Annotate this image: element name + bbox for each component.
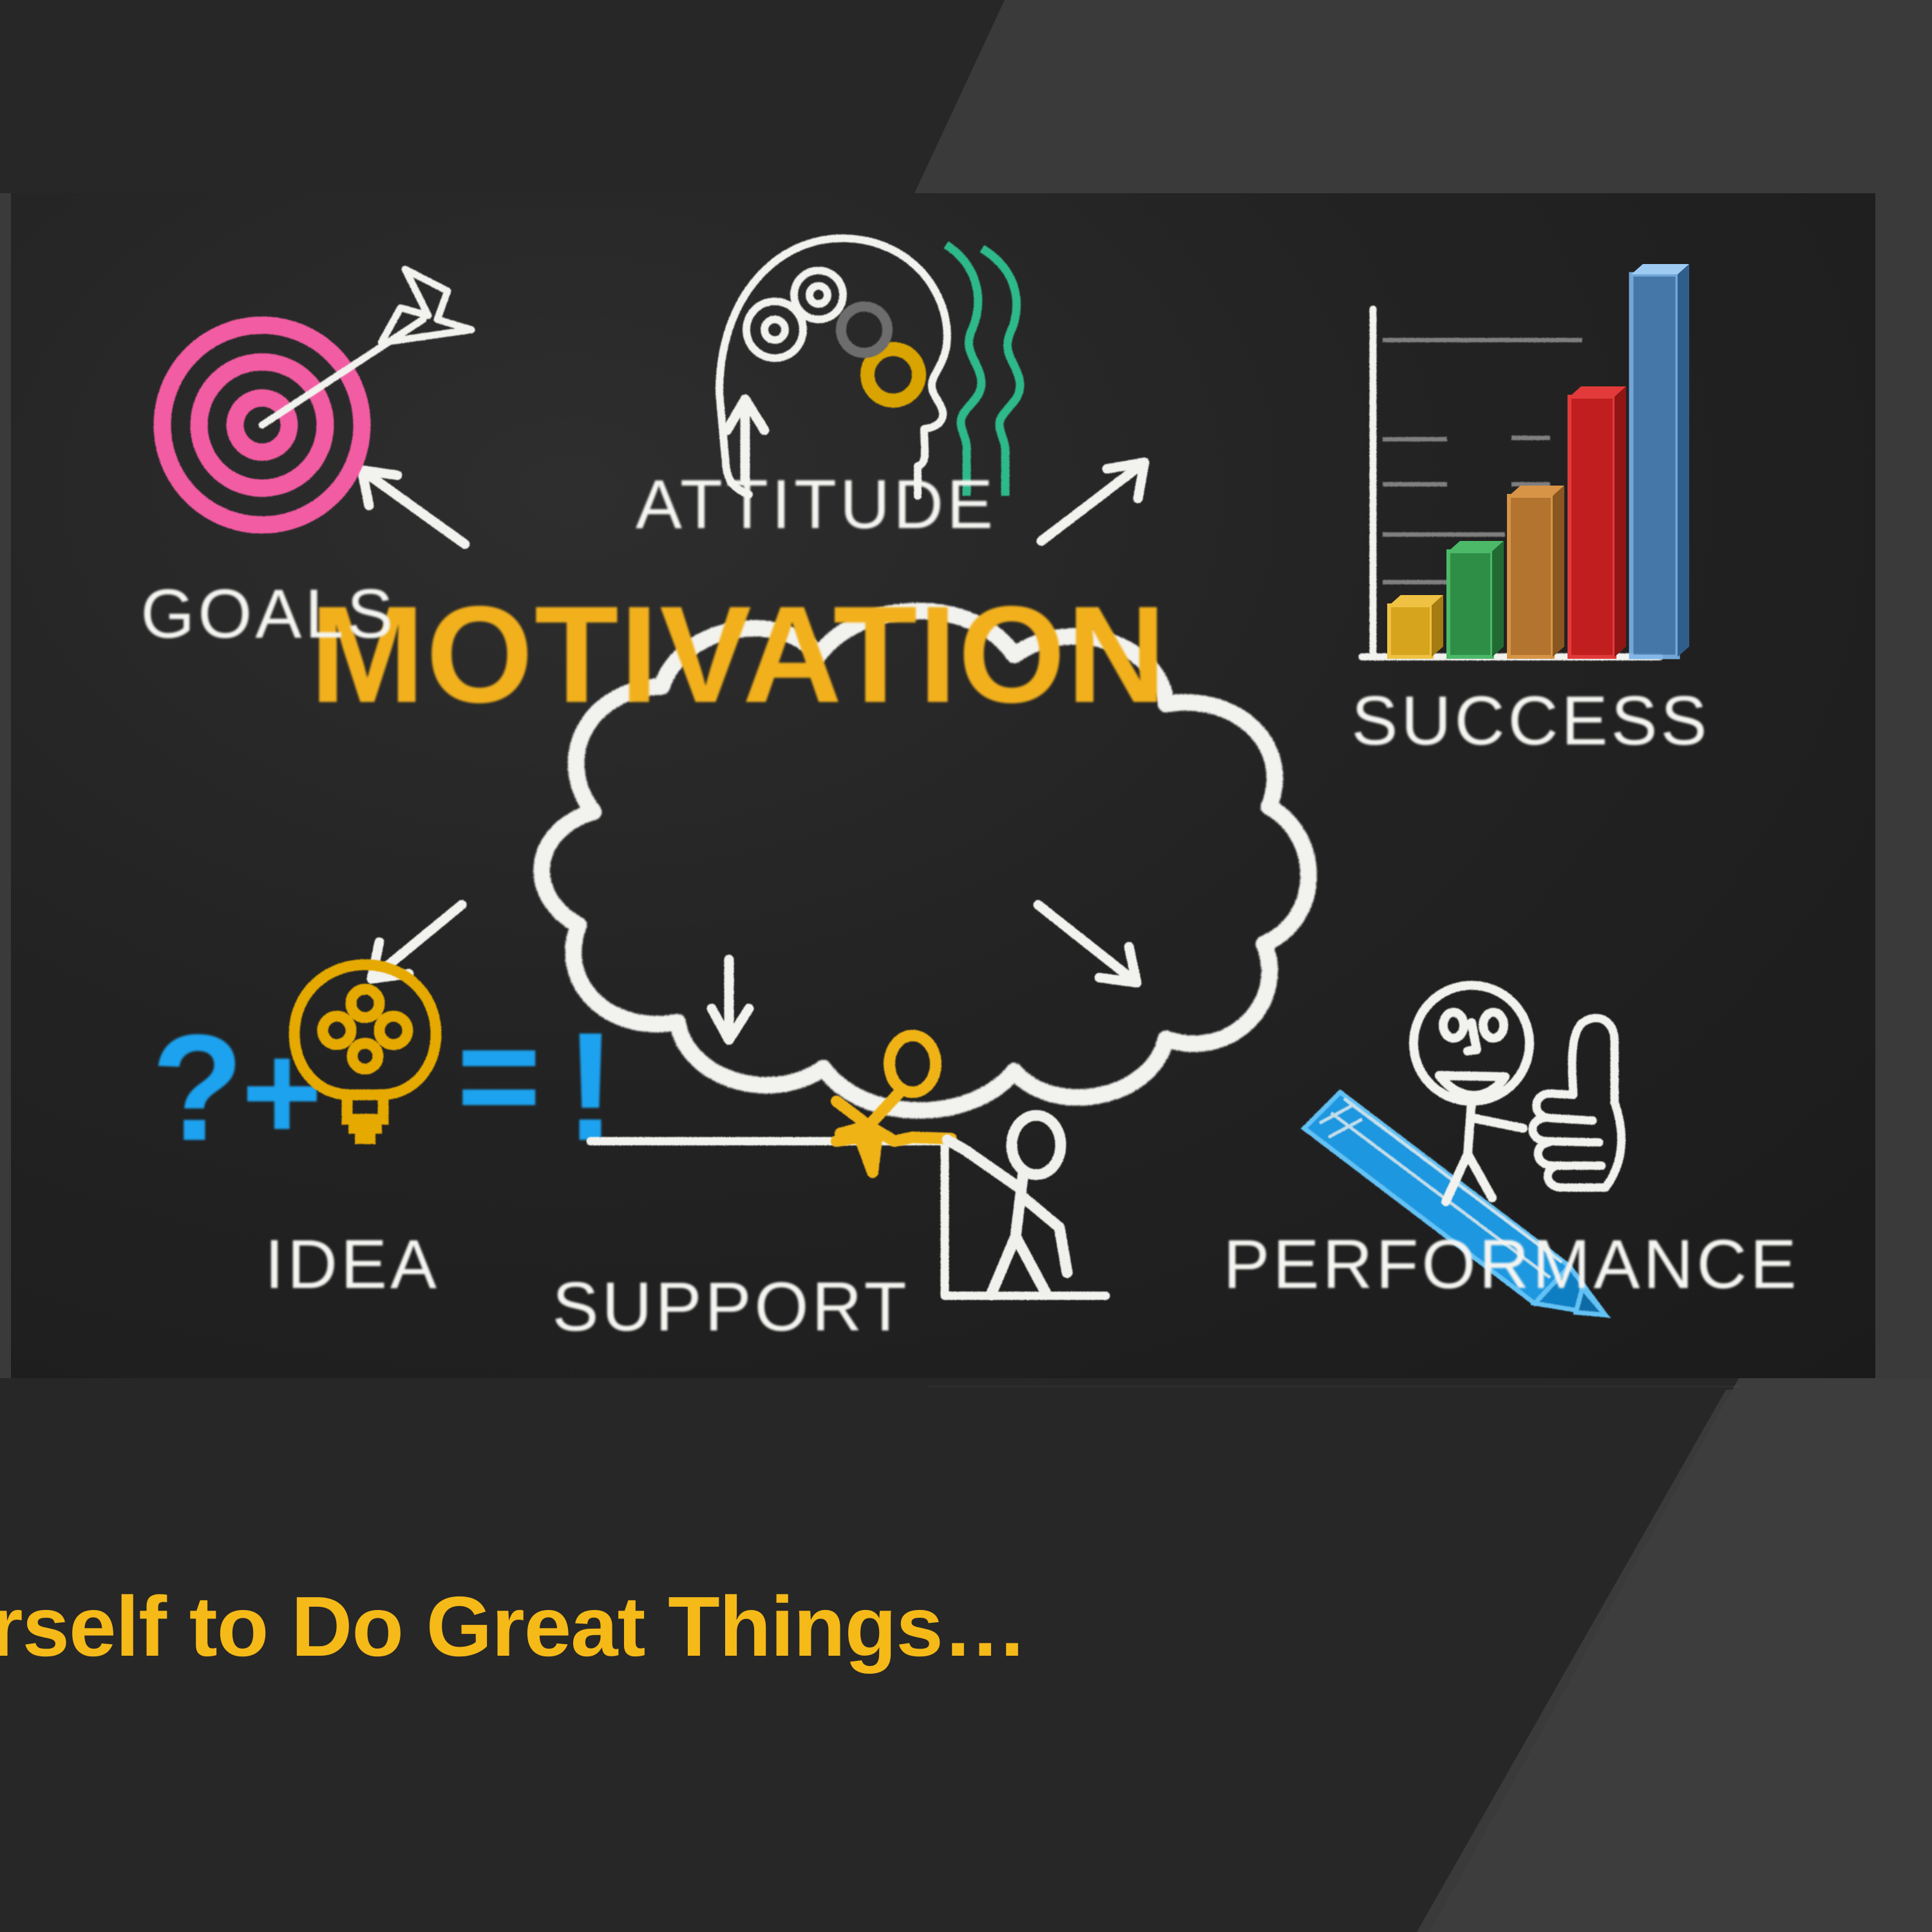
- goals-label: GOALS: [140, 574, 396, 652]
- motivation-chalkboard-image: MOTIVATION: [11, 193, 1875, 1378]
- chalkboard-illustration: MOTIVATION: [11, 193, 1875, 1378]
- thumbs-up-hand-icon: [1533, 1018, 1622, 1188]
- background-facet-top-left: [0, 0, 1095, 193]
- bar-2: [1448, 541, 1504, 657]
- motivation-label: MOTIVATION: [310, 578, 1168, 732]
- bar-5: [1631, 264, 1689, 657]
- success-node: SUCCESS: [1351, 264, 1710, 759]
- performance-node: PERFORMANCE: [1223, 985, 1799, 1315]
- question-mark-icon: ?: [151, 1003, 244, 1172]
- gear-gray-icon: [841, 307, 887, 353]
- bar-3: [1509, 486, 1564, 657]
- attitude-node: ATTITUDE: [636, 238, 1020, 543]
- exclamation-mark-icon: !: [565, 1000, 616, 1173]
- gear-yellow-icon: [867, 349, 919, 401]
- idea-label: IDEA: [265, 1225, 440, 1303]
- plus-sign-icon: +: [241, 1014, 323, 1170]
- equals-sign-icon: =: [457, 994, 541, 1157]
- support-label: SUPPORT: [552, 1267, 909, 1345]
- slide-title: ourself to Do Great Things…: [0, 1584, 1575, 1669]
- bar-1: [1389, 595, 1443, 657]
- arrow-to-success: [1041, 462, 1144, 541]
- bar-4: [1569, 386, 1626, 657]
- slide-canvas: MOTIVATION: [0, 0, 1932, 1932]
- helped-figure-white: [947, 1115, 1067, 1294]
- arrow-to-goals: [362, 470, 465, 544]
- head-echo-profiles: [946, 245, 1020, 496]
- attitude-label: ATTITUDE: [636, 465, 996, 543]
- performance-label: PERFORMANCE: [1223, 1225, 1799, 1303]
- idea-node: ? + = ! IDEA: [151, 965, 616, 1303]
- background-seam-line: [927, 1386, 1739, 1387]
- bar-chart-icon: [1389, 264, 1689, 657]
- arrow-to-performance: [1038, 905, 1137, 983]
- success-label: SUCCESS: [1351, 681, 1710, 759]
